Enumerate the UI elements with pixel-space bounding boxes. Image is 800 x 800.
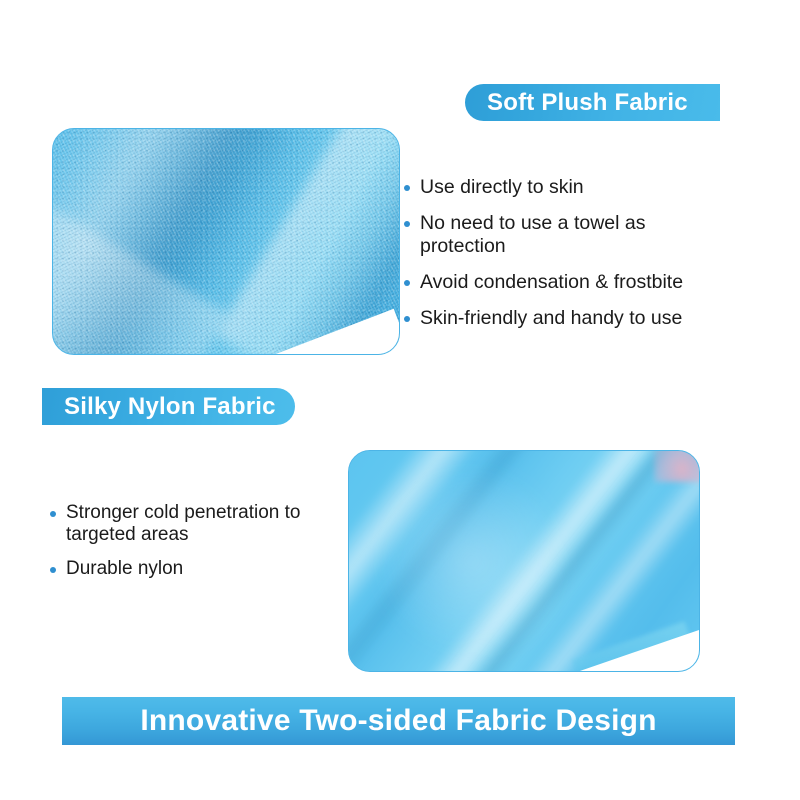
bullet-dot-icon [404, 185, 410, 191]
bullet-list-silky-nylon: Stronger cold penetration to targeted ar… [50, 502, 350, 592]
photo-nylon-fabric [348, 450, 700, 672]
list-item-label: Use directly to skin [420, 176, 584, 198]
plush-fabric-image [53, 129, 399, 354]
list-item: Durable nylon [50, 558, 350, 580]
list-item: Avoid condensation & frostbite [404, 271, 734, 294]
bullet-dot-icon [50, 511, 56, 517]
list-item-label: Stronger cold penetration to targeted ar… [66, 502, 301, 545]
nylon-fabric-image [349, 451, 699, 671]
list-item: Use directly to skin [404, 176, 734, 199]
plush-pile-noise [53, 129, 399, 354]
list-item-label: Avoid condensation & frostbite [420, 271, 683, 293]
footer-banner: Innovative Two-sided Fabric Design [62, 697, 735, 745]
nylon-pink-corner-tint [654, 450, 701, 482]
bullet-dot-icon [50, 567, 56, 573]
list-item: No need to use a towel as protection [404, 212, 734, 258]
bullet-dot-icon [404, 316, 410, 322]
bullet-list-soft-plush: Use directly to skin No need to use a to… [404, 176, 734, 343]
infographic-page: Soft Plush Fabric Use directly to skin N… [0, 0, 800, 800]
badge-soft-plush-fabric: Soft Plush Fabric [465, 84, 720, 121]
list-item-label: Skin-friendly and handy to use [420, 307, 682, 329]
list-item-label: Durable nylon [66, 558, 183, 579]
badge-soft-plush-label: Soft Plush Fabric [487, 89, 688, 117]
list-item: Stronger cold penetration to targeted ar… [50, 502, 350, 546]
badge-silky-nylon-fabric: Silky Nylon Fabric [42, 388, 295, 425]
badge-silky-nylon-label: Silky Nylon Fabric [64, 393, 276, 421]
bullet-dot-icon [404, 280, 410, 286]
list-item-label: No need to use a towel as protection [420, 212, 645, 257]
footer-banner-label: Innovative Two-sided Fabric Design [140, 704, 656, 738]
photo-plush-fabric [52, 128, 400, 355]
bullet-dot-icon [404, 221, 410, 227]
list-item: Skin-friendly and handy to use [404, 307, 734, 330]
